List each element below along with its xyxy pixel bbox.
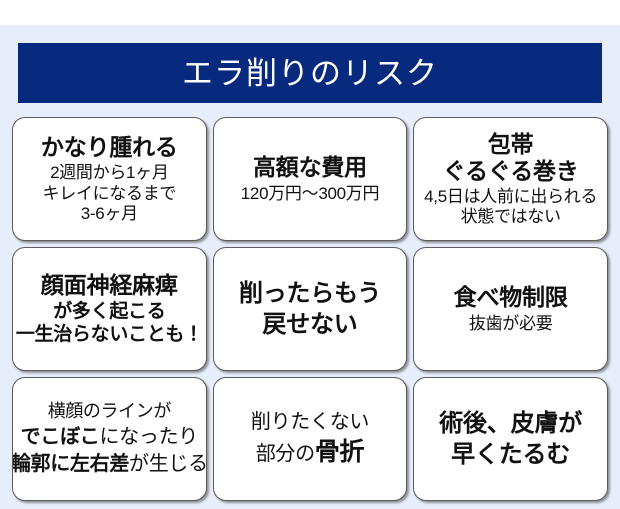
card-heading: 食べ物制限 — [454, 284, 568, 311]
card-heading: 術後、皮膚が — [439, 408, 582, 439]
card-heading-second: 戻せない — [262, 309, 357, 340]
risk-card-grid: かなり腫れる 2週間から1ヶ月 キレイになるまで 3-6ヶ月 高額な費用 120… — [12, 117, 608, 501]
card-detail-line: 横顔のラインが — [48, 400, 171, 424]
page-title: エラ削りのリスク — [182, 58, 438, 89]
card-heading-second: ぐるぐる巻き — [443, 158, 579, 185]
card-heading: 顔面神経麻痺 — [41, 272, 178, 299]
plain-text: になったり — [99, 426, 198, 448]
card-detail-line: 2週間から1ヶ月 — [50, 163, 169, 183]
card-detail-line: 抜歯が必要 — [469, 314, 553, 334]
card-detail-line: 輪郭に左右差が生じる — [12, 451, 207, 478]
emphasis-text: 輪郭に左右差 — [12, 453, 129, 475]
risk-card-uneven-contour: 横顔のラインが でこぼこになったり 輪郭に左右差が生じる — [12, 377, 207, 501]
risk-card-food-restriction: 食べ物制限 抜歯が必要 — [413, 247, 608, 371]
emphasis-text: でこぼこ — [21, 426, 100, 448]
risk-card-swelling: かなり腫れる 2週間から1ヶ月 キレイになるまで 3-6ヶ月 — [12, 117, 207, 241]
card-detail-line: でこぼこになったり — [21, 424, 198, 451]
card-heading: かなり腫れる — [41, 134, 178, 161]
card-heading: 高額な費用 — [253, 154, 367, 181]
card-heading-second: 早くたるむ — [451, 439, 570, 470]
card-heading: 包帯 — [488, 131, 534, 158]
risk-card-high-cost: 高額な費用 120万円〜300万円 — [213, 117, 408, 241]
risk-card-irreversible: 削ったらもう 戻せない — [213, 247, 408, 371]
card-detail-line: 削りたくない — [251, 409, 369, 436]
infographic-panel: エラ削りのリスク かなり腫れる 2週間から1ヶ月 キレイになるまで 3-6ヶ月 … — [0, 25, 620, 509]
risk-card-skin-sagging: 術後、皮膚が 早くたるむ — [413, 377, 608, 501]
title-banner: エラ削りのリスク — [18, 43, 602, 103]
risk-card-bone-fracture: 削りたくない 部分の骨折 — [213, 377, 408, 501]
card-detail-line: 3-6ヶ月 — [81, 204, 138, 224]
plain-text: が生じる — [129, 453, 207, 475]
card-detail-line: キレイになるまで — [43, 184, 177, 204]
card-detail-line: 一生治らないことも！ — [16, 324, 203, 346]
emphasis-text: 骨折 — [315, 438, 364, 466]
card-detail-line: 120万円〜300万円 — [241, 184, 379, 204]
card-detail-line: が多く起こる — [53, 301, 165, 323]
risk-card-bandage: 包帯 ぐるぐる巻き 4,5日は人前に出られる 状態ではない — [413, 117, 608, 241]
card-detail-line: 4,5日は人前に出られる — [424, 187, 597, 207]
card-detail-line: 部分の骨折 — [256, 436, 365, 470]
plain-text: 部分の — [256, 443, 315, 465]
risk-card-facial-nerve-palsy: 顔面神経麻痺 が多く起こる 一生治らないことも！ — [12, 247, 207, 371]
card-heading: 削ったらもう — [239, 278, 381, 309]
card-detail-line: 状態ではない — [461, 207, 561, 227]
